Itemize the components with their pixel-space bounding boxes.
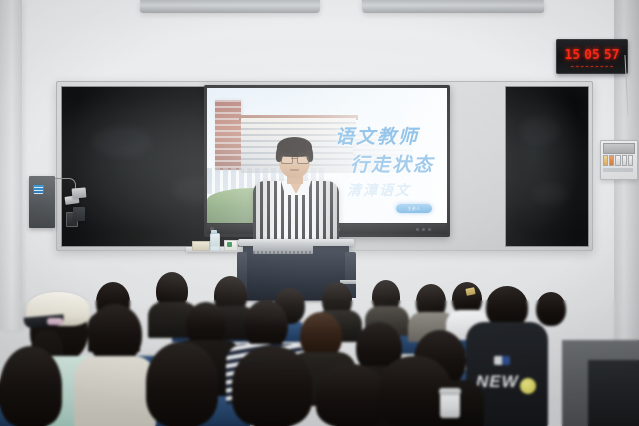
chalkboard-right-panel bbox=[505, 86, 589, 247]
hair-tie-icon bbox=[47, 318, 63, 325]
glasses-bridge-icon bbox=[291, 158, 297, 159]
breaker-label-strip bbox=[603, 168, 633, 172]
display-side-buttons[interactable] bbox=[416, 228, 431, 231]
digital-led-wall-clock: • • • • 15 05 57 ▬ ▬ ▬ ▬ ▬ ▬ ▬ ▬ ▬ ▫ bbox=[556, 39, 628, 74]
breaker-switch[interactable] bbox=[615, 155, 620, 166]
slide-subtitle-faint: 清漳语文 bbox=[347, 180, 411, 200]
lecturer bbox=[247, 140, 343, 255]
clock-segment: ▬ bbox=[600, 64, 603, 68]
student-head bbox=[88, 304, 142, 364]
student-head bbox=[0, 346, 62, 426]
av-control-cabinet[interactable] bbox=[29, 176, 55, 228]
clock-segment: ▬ bbox=[605, 64, 608, 68]
clock-segment: ▬ bbox=[586, 64, 589, 68]
lecturer-mouth bbox=[290, 169, 299, 171]
breaker-switch[interactable] bbox=[609, 155, 614, 166]
slide-presenter-badge: 主讲人 bbox=[396, 204, 432, 213]
water-bottle[interactable] bbox=[210, 233, 220, 251]
breaker-switch[interactable] bbox=[628, 155, 633, 166]
wall-left-column bbox=[0, 0, 22, 330]
ceiling-light-fixture bbox=[140, 0, 320, 13]
clock-segment: ▬ bbox=[571, 64, 574, 68]
mlb-logo-icon bbox=[494, 356, 510, 365]
classroom-scene: • • • • 15 05 57 ▬ ▬ ▬ ▬ ▬ ▬ ▬ ▬ ▬ ▫ bbox=[0, 0, 639, 426]
ceiling-light-fixture bbox=[362, 0, 545, 13]
student-head bbox=[146, 342, 218, 426]
student-striped-shirt bbox=[244, 300, 288, 350]
slide-badge-label: 主讲人 bbox=[407, 206, 420, 212]
student-head bbox=[536, 292, 566, 326]
breaker-switch-row[interactable] bbox=[603, 155, 633, 166]
water-bottle-cap bbox=[211, 230, 217, 234]
wall-plate-lower[interactable] bbox=[73, 207, 85, 221]
clock-segment: ▬ bbox=[610, 64, 613, 68]
clock-brand-mark: ▫ bbox=[623, 69, 624, 72]
tee-graphic-icon bbox=[520, 378, 536, 394]
lecturer-eyebrow bbox=[282, 153, 291, 155]
student-head bbox=[316, 364, 386, 426]
glasses-icon bbox=[297, 156, 309, 164]
slide-title-line-2: 行走状态 bbox=[350, 150, 434, 177]
tissue-box-logo-icon bbox=[227, 242, 232, 247]
clock-segment: ▬ bbox=[576, 64, 579, 68]
clock-date-indicators: ▬ ▬ ▬ ▬ ▬ ▬ ▬ ▬ ▬ bbox=[571, 64, 613, 68]
clock-segment: ▬ bbox=[595, 64, 598, 68]
breaker-switch[interactable] bbox=[622, 155, 627, 166]
clock-seconds: 57 bbox=[604, 49, 620, 62]
breaker-switch[interactable] bbox=[603, 155, 608, 166]
slide-title-line-1: 语文教师 bbox=[335, 122, 419, 149]
water-cup-lid bbox=[439, 388, 461, 395]
supply-box[interactable] bbox=[192, 241, 210, 251]
student-body bbox=[74, 356, 156, 426]
clock-hours: 15 bbox=[565, 49, 581, 62]
lectern-keyboard[interactable] bbox=[253, 251, 313, 254]
lecturer-eyebrow bbox=[298, 153, 307, 155]
cabinet-label-icon bbox=[33, 185, 44, 194]
side-equipment-panel bbox=[588, 360, 639, 426]
clock-segment: ▬ bbox=[591, 64, 594, 68]
clock-time-display: 15 05 57 bbox=[565, 49, 620, 62]
clock-minutes: 05 bbox=[584, 49, 600, 62]
wall-plate-upper[interactable] bbox=[72, 187, 87, 198]
clock-segment: ▬ bbox=[581, 64, 584, 68]
student-head bbox=[232, 346, 312, 426]
water-cup[interactable] bbox=[440, 392, 460, 418]
cabinet-cable bbox=[55, 178, 76, 189]
breaker-main-switch[interactable] bbox=[603, 143, 635, 154]
